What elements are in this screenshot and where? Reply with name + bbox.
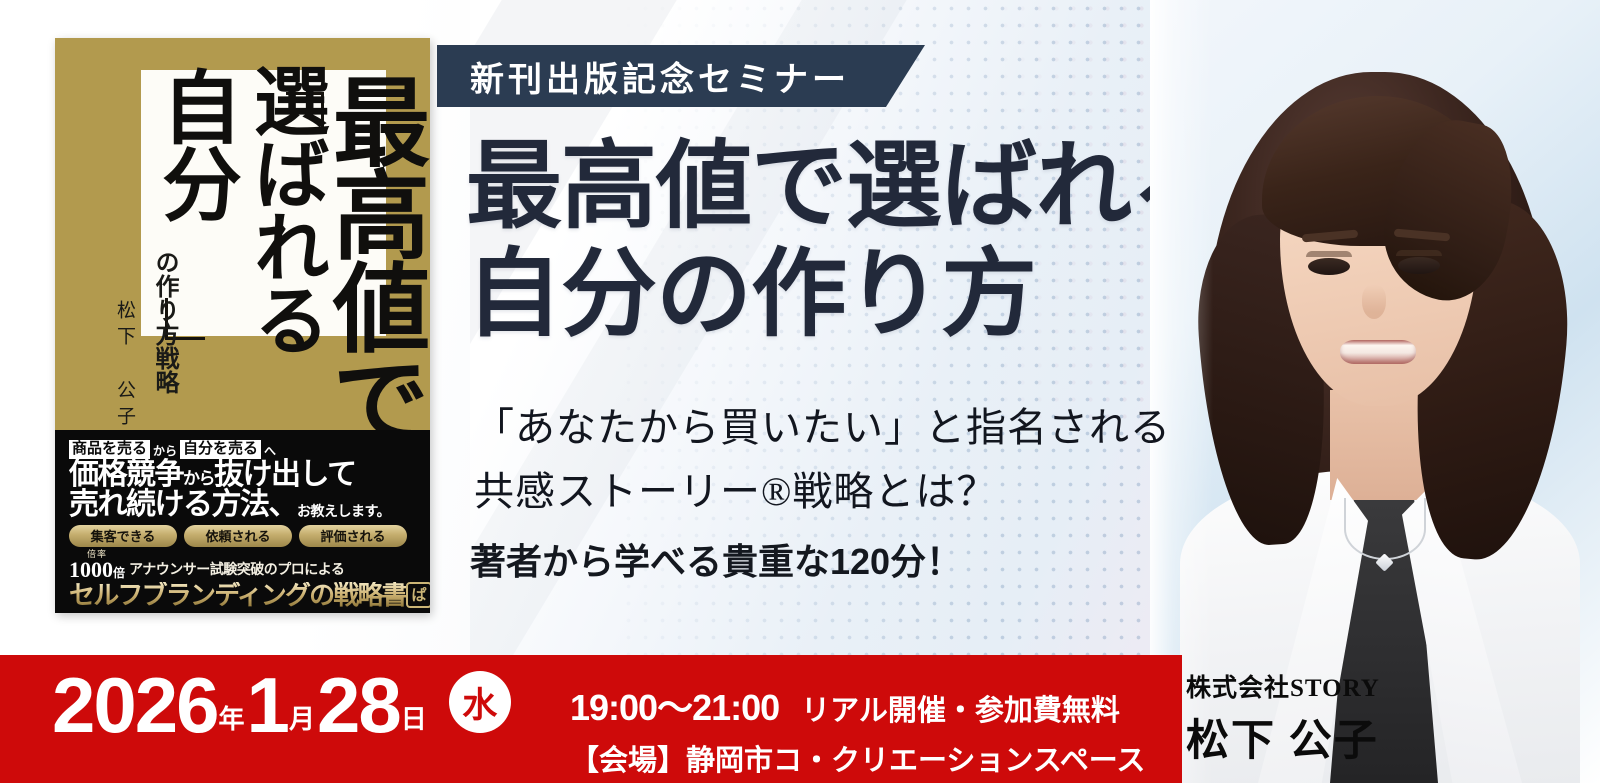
book-obi-ratio-value: 1000	[69, 557, 113, 582]
publisher-logo-icon: ぱ	[406, 582, 430, 608]
book-obi-ratio-row: 倍率 1000倍 アナウンサー試験突破のプロによる	[69, 550, 418, 581]
book-obi-footer: セルフブランディングの戦略書 ぱ	[69, 582, 418, 608]
event-day: 28	[317, 672, 400, 739]
book-obi-pill-list: 集客できる 依頼される 評価される	[69, 525, 418, 547]
book-obi-chip-2: 自分を売る	[180, 440, 261, 459]
event-info: 19:00〜21:00 リアル開催・参加費無料 【会場】静岡市コ・クリエーション…	[570, 679, 1145, 779]
book-obi-headline-2b: お教えします。	[297, 504, 390, 521]
event-time: 19:00〜21:00	[570, 679, 779, 731]
book-obi-pill: 依頼される	[184, 525, 292, 547]
book-obi-headline-1a: 価格競争	[69, 458, 183, 491]
book-obi-kara: から	[153, 442, 177, 459]
book-obi-pro-text: アナウンサー試験突破のプロによる	[129, 559, 344, 581]
book-obi-ratio-number: 1000倍	[69, 557, 125, 582]
book-cover-image: 最高値で 選ばれる 自分 の作り方戦略 松下 公子 商品を売る から 自分を売る…	[55, 38, 430, 613]
event-day-of-week: 水	[449, 671, 511, 733]
speaker-portrait-photo	[1150, 0, 1600, 783]
book-obi-headline-1: 価格競争から抜け出して	[69, 460, 418, 491]
book-title-line-2: 選ばれる	[246, 62, 322, 354]
book-obi-ratio-suffix: 倍	[113, 566, 125, 580]
portrait-left-fade	[1150, 0, 1600, 783]
subtitle-line-1-text: 「あなたから買いたい」と指名される	[474, 405, 1171, 450]
event-month: 1	[247, 672, 288, 739]
book-obi-line-1: 商品を売る から 自分を売る へ	[69, 440, 418, 459]
seminar-banner: 最高値で 選ばれる 自分 の作り方戦略 松下 公子 商品を売る から 自分を売る…	[0, 0, 1600, 783]
event-format-note: リアル開催・参加費無料	[801, 687, 1120, 729]
book-obi-headline-2a: 売れ続ける方法、	[69, 490, 297, 521]
speaker-name: 松下 公子	[1186, 706, 1436, 768]
event-info-row-1: 19:00〜21:00 リアル開催・参加費無料	[570, 679, 1145, 731]
book-obi-brand-text: セルフブランディングの戦略書	[69, 582, 406, 608]
subtitle-block: 「あなたから買いたい」と指名される 共感ストーリー®戦略とは？ 著者から学べる貴…	[470, 404, 1210, 585]
book-obi-ratio-block: 倍率 1000倍	[69, 550, 125, 581]
seminar-ribbon-label: 新刊出版記念セミナー	[437, 52, 850, 101]
book-subtitle: の作り方戦略	[152, 250, 176, 394]
subtitle-line-1: 「あなたから買いたい」と指名される	[470, 404, 1177, 455]
book-obi-headline-1b: から	[183, 469, 214, 488]
event-year-unit: 年	[218, 706, 247, 739]
book-obi-band: 商品を売る から 自分を売る へ 価格競争から抜け出して 売れ続ける方法、お教え…	[55, 430, 430, 613]
event-month-unit: 月	[288, 706, 317, 739]
book-obi-chip-1: 商品を売る	[69, 440, 150, 459]
book-obi-pill: 評価される	[299, 525, 407, 547]
event-day-unit: 日	[400, 706, 429, 739]
speaker-credit: 株式会社STORY 松下 公子	[1186, 668, 1436, 768]
event-details-bar: 2026 年 1 月 28 日 水 19:00〜21:00 リアル開催・参加費無…	[0, 655, 1182, 783]
speaker-company: 株式会社STORY	[1186, 668, 1436, 704]
event-year: 2026	[52, 672, 218, 739]
book-title-line-3: 自分	[154, 66, 234, 220]
event-venue: 【会場】静岡市コ・クリエーションスペース	[570, 737, 1145, 779]
subtitle-line-2: 共感ストーリー®戦略とは？	[470, 468, 1003, 519]
subtitle-line-2-text: 共感ストーリー®戦略とは？	[474, 469, 997, 514]
book-obi-headline-1c: 抜け出して	[214, 458, 356, 491]
book-author: 松下 公子	[115, 300, 134, 432]
book-title-line-1: 最高値で	[323, 72, 420, 444]
subtitle-line-3: 著者から学べる貴重な120分！	[470, 533, 1210, 585]
book-obi-headline-2: 売れ続ける方法、お教えします。	[69, 490, 418, 521]
seminar-ribbon: 新刊出版記念セミナー	[437, 45, 925, 107]
event-date: 2026 年 1 月 28 日 水	[52, 671, 511, 739]
book-obi-he: へ	[264, 442, 276, 459]
book-obi-pill: 集客できる	[69, 525, 177, 547]
